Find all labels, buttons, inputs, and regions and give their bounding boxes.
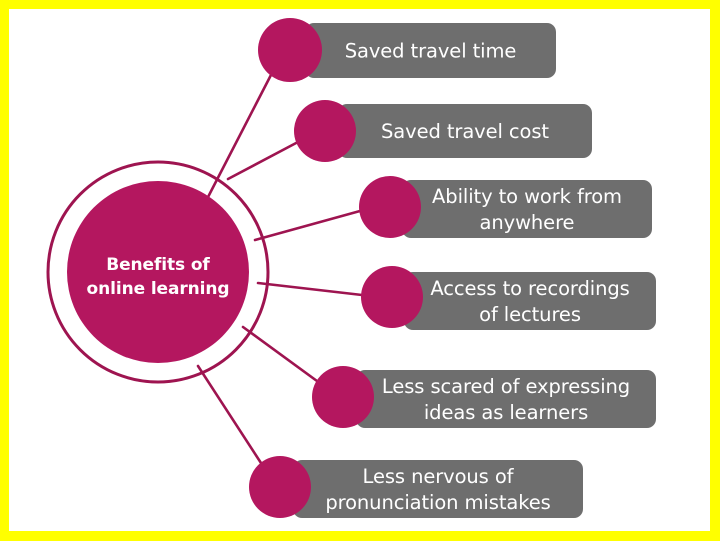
branch-circle-saved-travel-time[interactable] bbox=[258, 18, 322, 82]
branch-circle-ability-to-work-from-anywhere[interactable] bbox=[359, 176, 421, 238]
hub-group: Benefits ofonline learning bbox=[48, 162, 268, 382]
label-line: anywhere bbox=[480, 211, 575, 234]
connector-line-less-scared-of-expressing-ideas bbox=[243, 327, 317, 381]
benefits-radial-diagram: Benefits ofonline learning Saved travel … bbox=[9, 9, 710, 531]
label-line: Saved travel cost bbox=[381, 120, 549, 143]
connector-line-access-to-recordings-of-lectures bbox=[258, 283, 362, 295]
connector-line-less-nervous-of-pronunciation-mistakes bbox=[198, 366, 261, 463]
branch-circle-less-scared-of-expressing-ideas[interactable] bbox=[312, 366, 374, 428]
connector-line-ability-to-work-from-anywhere bbox=[255, 211, 360, 240]
diagram-yellow-frame: Benefits ofonline learning Saved travel … bbox=[0, 0, 720, 541]
branch-circle-less-nervous-of-pronunciation-mistakes[interactable] bbox=[249, 456, 311, 518]
label-text-saved-travel-time: Saved travel time bbox=[345, 40, 517, 63]
label-line: Access to recordings bbox=[430, 277, 629, 300]
label-text-saved-travel-cost: Saved travel cost bbox=[381, 120, 549, 143]
label-boxes-group bbox=[293, 23, 656, 518]
label-line: Less nervous of bbox=[363, 465, 515, 488]
hub-label-line: Benefits of bbox=[106, 255, 210, 275]
branch-circle-saved-travel-cost[interactable] bbox=[294, 100, 356, 162]
label-line: Less scared of expressing bbox=[382, 375, 630, 398]
branch-circles-group bbox=[249, 18, 423, 518]
branch-circle-access-to-recordings-of-lectures[interactable] bbox=[361, 266, 423, 328]
label-line: of lectures bbox=[479, 303, 581, 326]
label-line: pronunciation mistakes bbox=[325, 491, 550, 514]
connector-line-saved-travel-cost bbox=[228, 142, 298, 179]
label-line: Ability to work from bbox=[432, 185, 622, 208]
label-line: Saved travel time bbox=[345, 40, 517, 63]
diagram-canvas: Benefits ofonline learning Saved travel … bbox=[9, 9, 710, 531]
hub-label-line: online learning bbox=[87, 279, 230, 299]
label-line: ideas as learners bbox=[424, 401, 588, 424]
